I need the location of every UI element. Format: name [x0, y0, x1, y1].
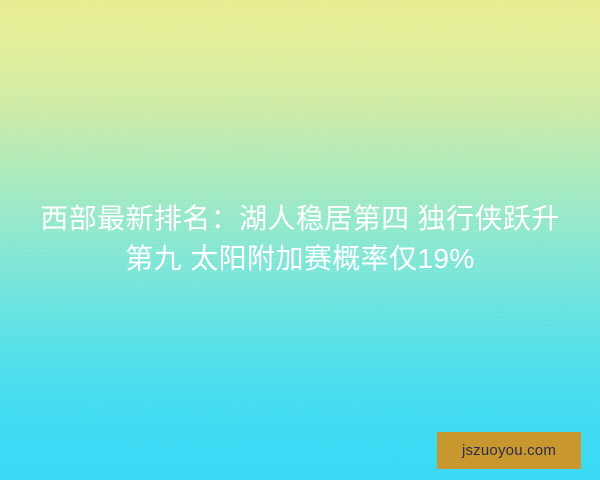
watermark-label: jszuoyou.com [462, 443, 556, 458]
headline-text: 西部最新排名：湖人稳居第四 独行侠跃升第九 太阳附加赛概率仅19% [34, 199, 566, 279]
headline-card: 西部最新排名：湖人稳居第四 独行侠跃升第九 太阳附加赛概率仅19% jszuoy… [0, 0, 600, 480]
watermark-badge: jszuoyou.com [437, 432, 581, 469]
